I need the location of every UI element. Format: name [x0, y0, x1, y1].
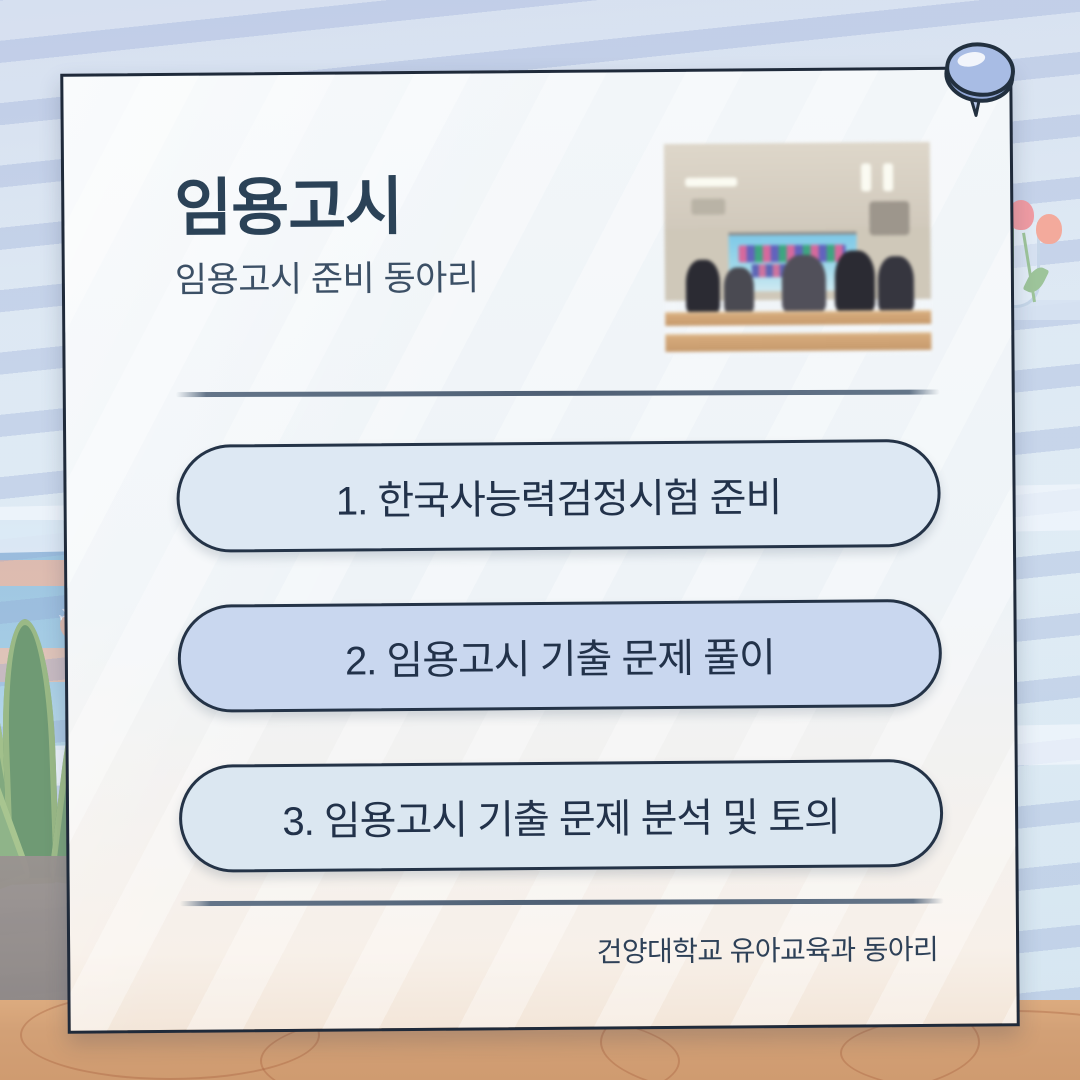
projector — [691, 199, 725, 215]
flower-bloom — [1036, 214, 1062, 244]
card-header: 임용고시 임용고시 준비 동아리 — [174, 142, 940, 360]
title-block: 임용고시 임용고시 준비 동아리 — [174, 145, 479, 303]
photo-desk-row — [664, 332, 932, 352]
activity-item-3[interactable]: 3. 임용고시 기출 문제 분석 및 토의 — [179, 759, 944, 873]
poster-stage: ✈ — [0, 0, 1080, 1080]
student — [782, 254, 826, 312]
card-surface: 임용고시 임용고시 준비 동아리 — [60, 66, 1020, 1033]
speaker — [869, 201, 909, 235]
card-content: 임용고시 임용고시 준비 동아리 — [63, 69, 1016, 1030]
activity-item-1[interactable]: 1. 한국사능력검정시험 준비 — [176, 439, 941, 553]
organization-label: 건양대학교 유아교육과 동아리 — [597, 934, 939, 968]
activity-item-2[interactable]: 2. 임용고시 기출 문제 풀이 — [177, 599, 942, 713]
classroom-photo — [664, 142, 932, 356]
student — [835, 250, 875, 312]
activity-list: 1. 한국사능력검정시험 준비 2. 임용고시 기출 문제 풀이 3. 임용고시… — [176, 439, 943, 873]
activity-label: 2. 임용고시 기출 문제 풀이 — [345, 625, 775, 686]
student — [877, 256, 913, 312]
ceiling-lamp — [883, 163, 893, 191]
poster-card: 임용고시 임용고시 준비 동아리 — [60, 66, 1020, 1033]
card-footer: 건양대학교 유아교육과 동아리 — [180, 928, 944, 974]
spacer — [180, 867, 944, 903]
ceiling-lamp — [685, 177, 737, 186]
activity-label: 1. 한국사능력검정시험 준비 — [336, 465, 782, 526]
page-subtitle: 임용고시 준비 동아리 — [175, 250, 479, 303]
ceiling-lamp — [861, 164, 871, 192]
divider-top — [176, 390, 940, 398]
student — [723, 267, 753, 313]
photo-desk-row — [664, 310, 932, 326]
activity-label: 3. 임용고시 기출 문제 분석 및 토의 — [282, 785, 840, 847]
student — [686, 259, 720, 313]
page-title: 임용고시 — [174, 173, 478, 242]
